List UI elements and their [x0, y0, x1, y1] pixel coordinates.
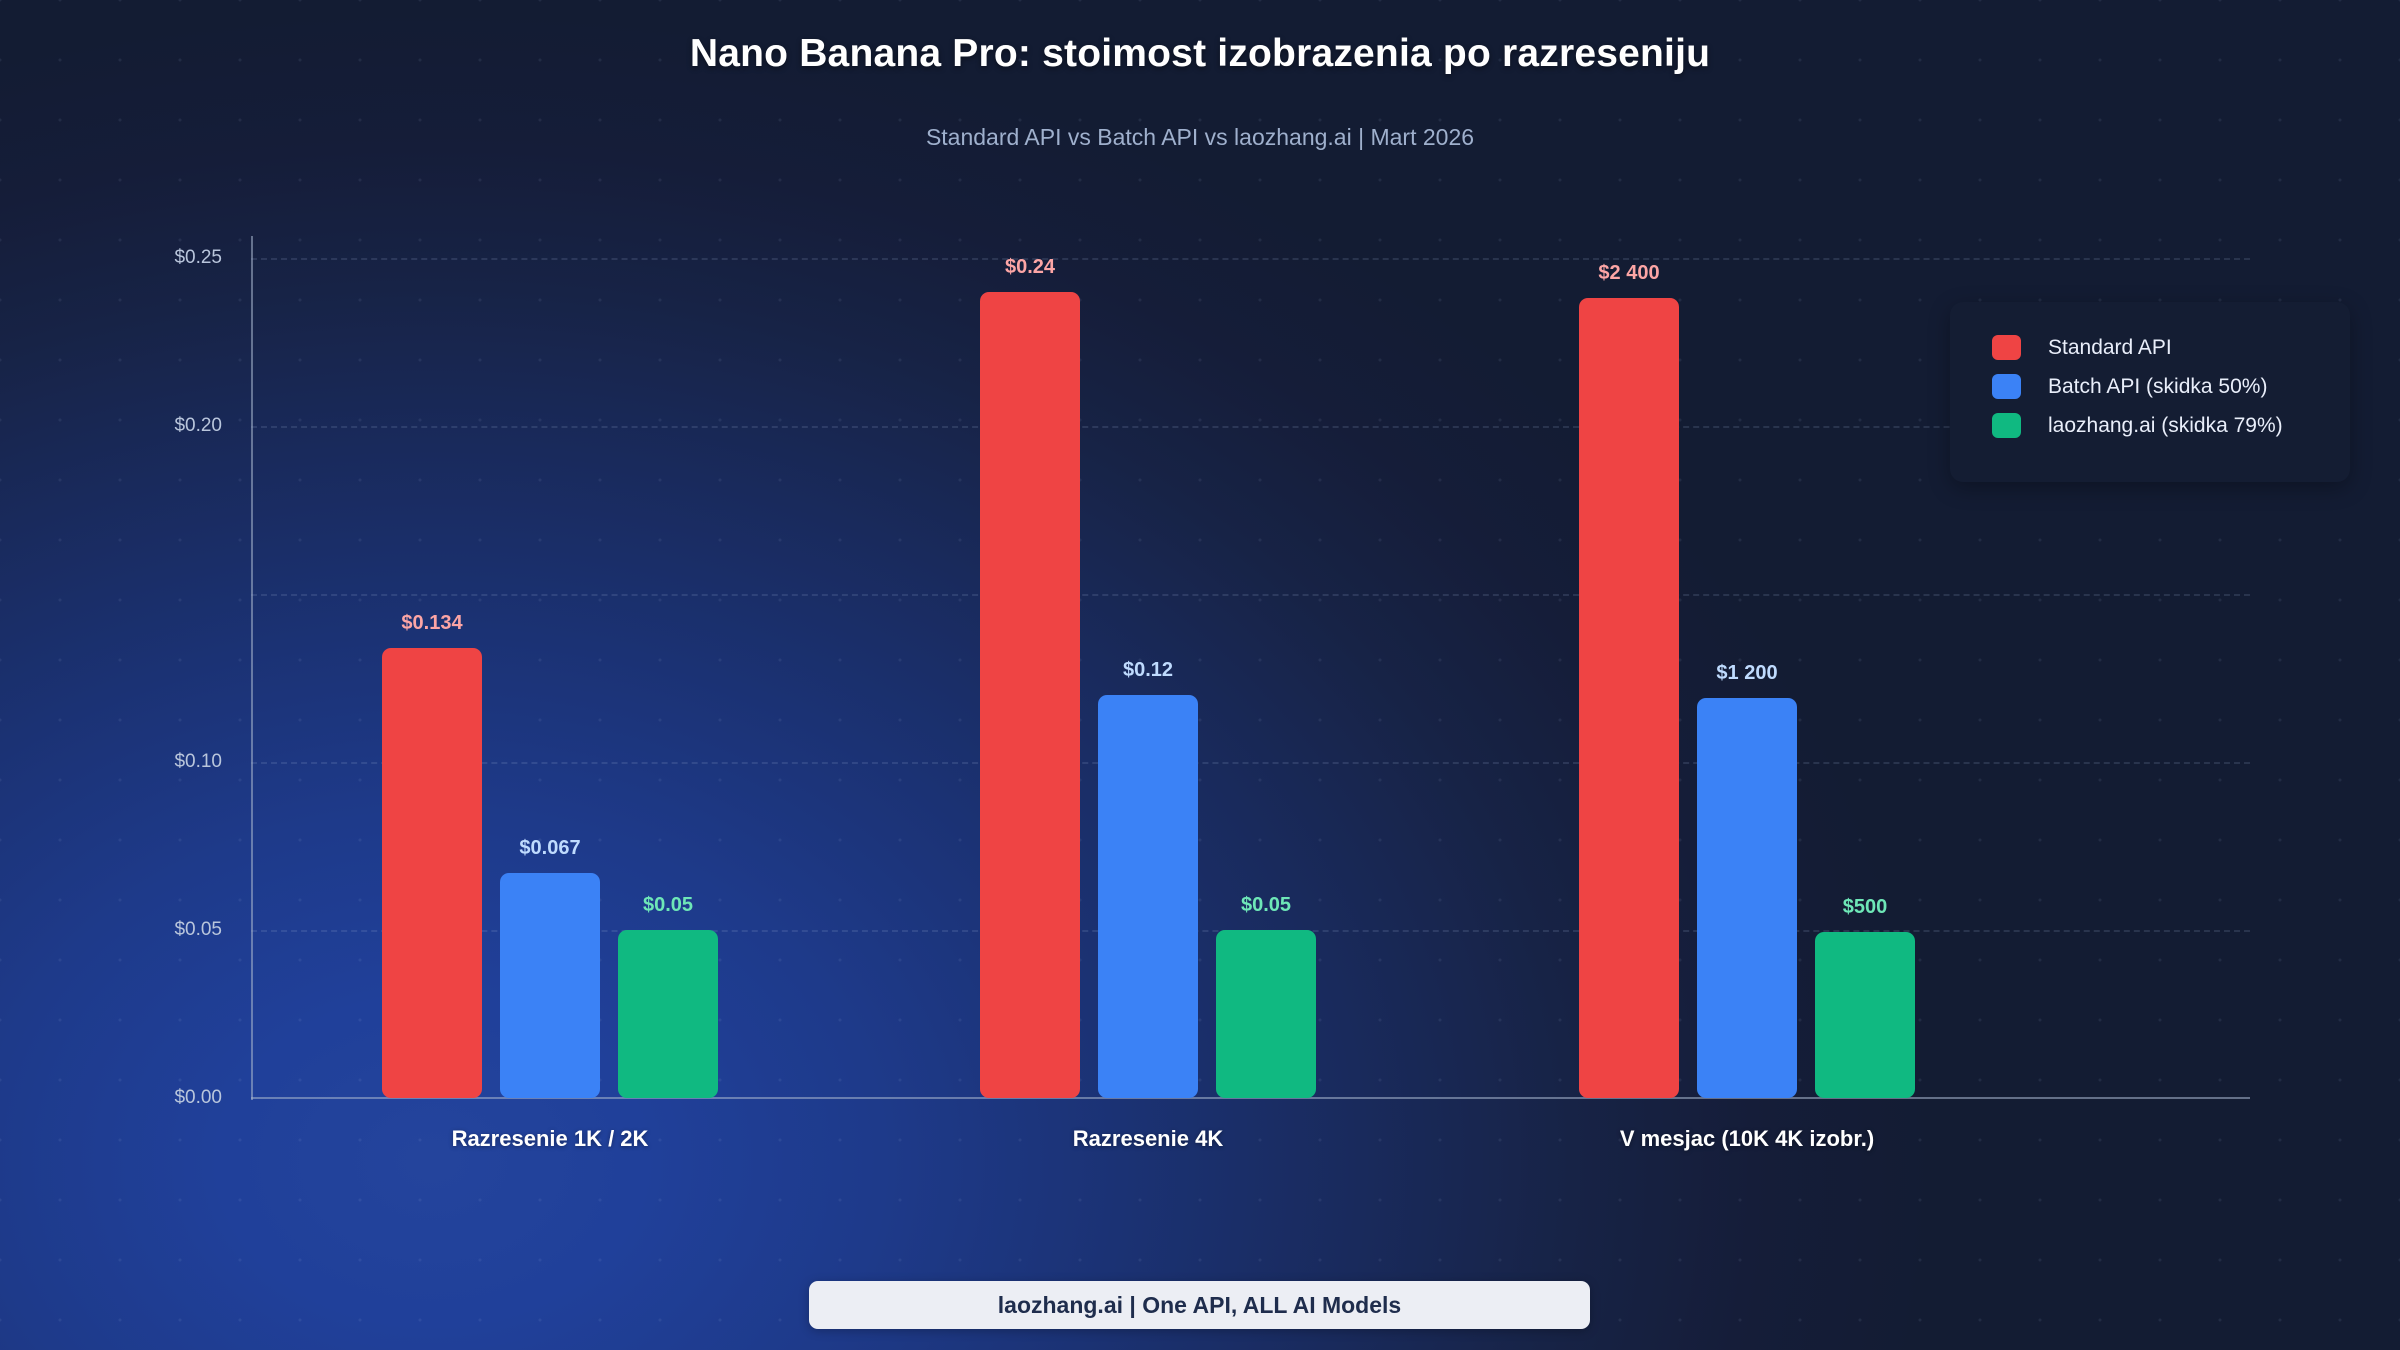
bar-standard-api[interactable] — [1579, 298, 1679, 1098]
brand-badge-label: laozhang.ai | One API, ALL AI Models — [998, 1292, 1401, 1319]
bar-value-label: $1 200 — [1716, 662, 1777, 685]
legend-label: laozhang.ai (skidka 79%) — [2048, 414, 2283, 438]
gridline — [251, 762, 2250, 764]
chart-subtitle: Standard API vs Batch API vs laozhang.ai… — [0, 124, 2400, 151]
bar-batch-api-skidka-50[interactable] — [1098, 695, 1198, 1098]
legend-swatch-icon — [1992, 413, 2021, 438]
bar-value-label: $0.24 — [1005, 256, 1055, 279]
chart-legend: Standard APIBatch API (skidka 50%)laozha… — [1950, 302, 2350, 482]
gridline — [251, 258, 2250, 260]
bar-laozhang-ai-skidka-79[interactable] — [1216, 930, 1316, 1098]
bar-value-label: $0.05 — [1241, 894, 1291, 917]
brand-badge: laozhang.ai | One API, ALL AI Models — [809, 1281, 1590, 1329]
bar-standard-api[interactable] — [382, 648, 482, 1098]
bar-value-label: $0.05 — [643, 894, 693, 917]
y-axis-tick-label: $0.25 — [174, 247, 222, 269]
bar-standard-api[interactable] — [980, 292, 1080, 1098]
y-axis-tick-label: $0.20 — [174, 415, 222, 437]
gridline — [251, 594, 2250, 596]
legend-label: Standard API — [2048, 336, 2172, 360]
legend-item[interactable]: Standard API — [1992, 335, 2172, 360]
bar-laozhang-ai-skidka-79[interactable] — [618, 930, 718, 1098]
y-axis-tick-label: $0.10 — [174, 751, 222, 773]
legend-item[interactable]: Batch API (skidka 50%) — [1992, 374, 2267, 399]
bar-value-label: $0.067 — [519, 837, 580, 860]
bar-value-label: $0.12 — [1123, 659, 1173, 682]
x-axis-category-label: Razresenie 1K / 2K — [452, 1126, 649, 1152]
page-title: Nano Banana Pro: stoimost izobrazenia po… — [0, 32, 2400, 76]
bar-batch-api-skidka-50[interactable] — [500, 873, 600, 1098]
legend-swatch-icon — [1992, 374, 2021, 399]
legend-swatch-icon — [1992, 335, 2021, 360]
x-axis-category-label: V mesjac (10K 4K izobr.) — [1620, 1126, 1874, 1152]
bar-batch-api-skidka-50[interactable] — [1697, 698, 1797, 1098]
bar-value-label: $500 — [1843, 896, 1888, 919]
x-axis-category-label: Razresenie 4K — [1073, 1126, 1223, 1152]
y-axis-tick-label: $0.00 — [174, 1087, 222, 1109]
y-axis-tick-label: $0.05 — [174, 919, 222, 941]
bar-laozhang-ai-skidka-79[interactable] — [1815, 932, 1915, 1098]
legend-item[interactable]: laozhang.ai (skidka 79%) — [1992, 413, 2283, 438]
legend-label: Batch API (skidka 50%) — [2048, 375, 2267, 399]
bar-value-label: $0.134 — [401, 612, 462, 635]
chart-canvas: Nano Banana Pro: stoimost izobrazenia po… — [0, 0, 2400, 1350]
y-axis-tick-labels: $0.25$0.20$0.10$0.05$0.00 — [0, 0, 222, 1350]
bar-value-label: $2 400 — [1598, 262, 1659, 285]
